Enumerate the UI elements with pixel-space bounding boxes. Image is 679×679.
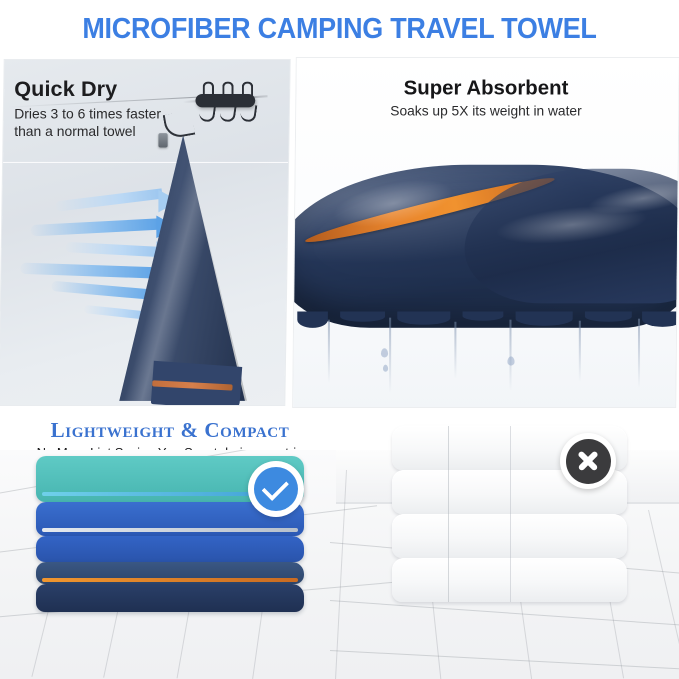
deep-navy-towel-layer bbox=[36, 584, 304, 612]
panel-quick-dry-inner: Quick Dry Dries 3 to 6 times faster than… bbox=[0, 60, 290, 405]
check-icon bbox=[262, 473, 290, 501]
water-drip-icon bbox=[293, 312, 679, 406]
blue-towel-layer bbox=[36, 536, 304, 562]
white-towel-layer-4 bbox=[392, 558, 627, 602]
quick-dry-body-line1: Dries 3 to 6 times faster bbox=[14, 105, 161, 123]
infographic-canvas: MICROFIBER CAMPING TRAVEL TOWEL bbox=[0, 0, 679, 679]
check-badge-icon bbox=[248, 461, 304, 517]
absorbent-heading: Super Absorbent bbox=[293, 77, 679, 100]
page-title-bar: MICROFIBER CAMPING TRAVEL TOWEL bbox=[0, 0, 679, 58]
hook-peg-2 bbox=[222, 82, 233, 97]
quick-dry-text-block: Quick Dry Dries 3 to 6 times faster than… bbox=[14, 77, 161, 140]
absorbent-body: Soaks up 5X its weight in water bbox=[293, 103, 679, 118]
panel-quick-dry: Quick Dry Dries 3 to 6 times faster than… bbox=[0, 60, 290, 405]
hook-curl-3 bbox=[240, 103, 258, 122]
microfiber-towel-stack bbox=[36, 456, 304, 596]
hook-peg-3 bbox=[242, 82, 253, 97]
panel-super-absorbent-inner: Super Absorbent Soaks up 5X its weight i… bbox=[293, 58, 679, 407]
royal-towel-trim bbox=[42, 528, 298, 532]
hook-rack-icon bbox=[183, 77, 267, 131]
check-badge-disc bbox=[254, 467, 298, 511]
hook-peg-1 bbox=[203, 82, 214, 97]
absorbent-text-block: Super Absorbent Soaks up 5X its weight i… bbox=[293, 77, 679, 119]
x-badge-icon bbox=[560, 433, 616, 489]
hook-curl-2 bbox=[219, 103, 237, 122]
white-towel-layer-3 bbox=[392, 514, 627, 558]
navy-towel-trim bbox=[42, 578, 298, 582]
x-badge-disc bbox=[566, 439, 611, 484]
hook-curl-1 bbox=[198, 103, 216, 122]
quick-dry-body-line2: than a normal towel bbox=[14, 123, 161, 141]
quick-dry-heading: Quick Dry bbox=[14, 77, 161, 102]
compare-heading: Lightweight & Compact bbox=[0, 418, 340, 443]
panel-comparison: Lightweight & Compact No More Lint Savin… bbox=[0, 412, 679, 679]
panel-super-absorbent: Super Absorbent Soaks up 5X its weight i… bbox=[293, 58, 679, 407]
page-title: MICROFIBER CAMPING TRAVEL TOWEL bbox=[82, 13, 596, 46]
traditional-towel-stack bbox=[392, 426, 627, 602]
